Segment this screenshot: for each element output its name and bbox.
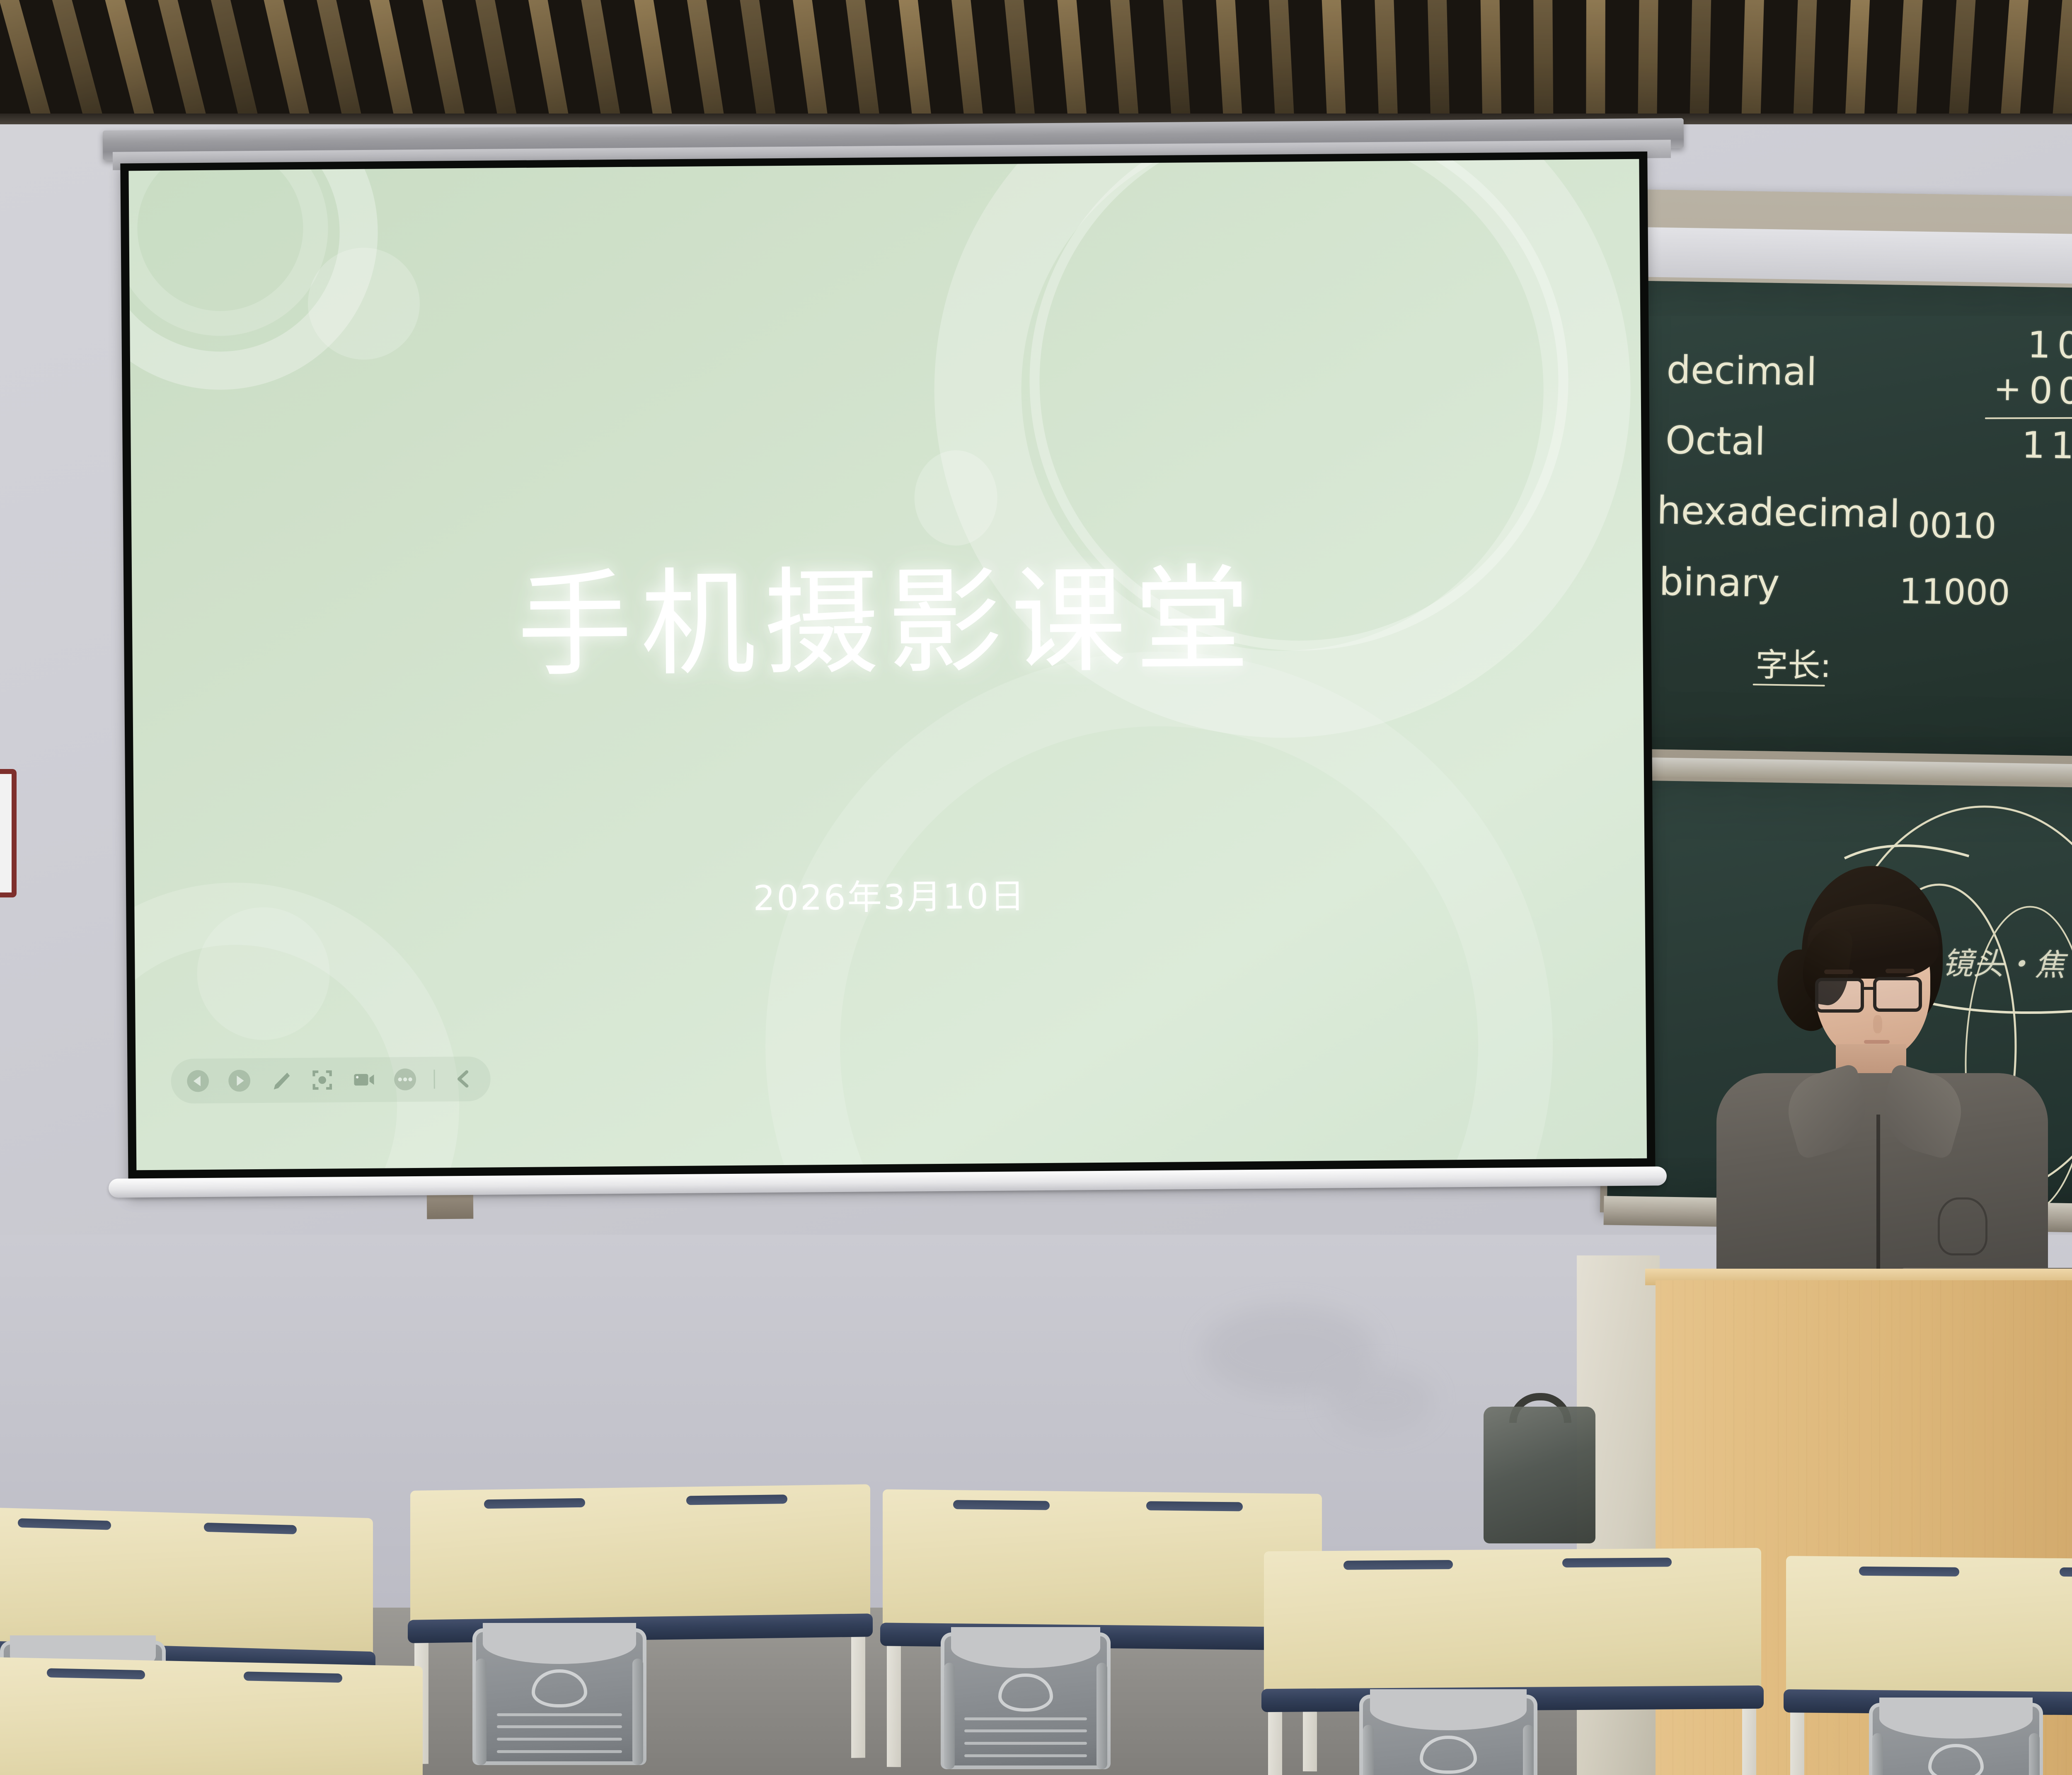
video-camera-icon[interactable] [351,1067,376,1093]
desk-surface [1786,1556,2072,1697]
ceiling-slat [738,0,777,124]
desk-surface [0,1507,373,1655]
chair-rail-left [1363,1725,1374,1775]
ceiling-slat [48,0,103,122]
pen-groove [2060,1567,2072,1577]
ceiling-slat [1793,0,1818,124]
student-desk [883,1489,1322,1630]
presentation-toolbar[interactable] [171,1057,491,1104]
ceiling-slat [314,0,363,123]
chalk-label-hexadecimal: hexadecimal [1656,488,1900,536]
focus-frame-icon[interactable] [309,1067,335,1093]
student-desk [0,1507,373,1655]
chair-wave-detail [497,1738,622,1741]
ellipsis-icon[interactable] [392,1066,418,1092]
chalk-label-decimal: decimal [1666,348,1817,394]
ceiling-slat [844,0,880,124]
ceiling-slat [525,0,569,124]
chair-rail-left [476,1659,487,1765]
ceiling-slat [261,0,311,123]
chair-top-curve [951,1627,1101,1668]
chair-rail-right [1523,1725,1534,1775]
previous-slide-button[interactable] [185,1068,211,1094]
ceiling-slat [1162,0,1191,124]
ceiling-slat [1215,0,1243,124]
chair-wave-detail [964,1717,1087,1720]
chalk-sum-result: 11010100 [2021,423,2072,470]
ceiling-slat [1897,0,1924,124]
ceiling-slat [1056,0,1087,124]
chair-rail-right [2029,1733,2040,1775]
ceiling-slat [1949,0,1977,124]
desk-surface [883,1489,1322,1630]
chalk-value-hexadecimal: 0010 [1907,505,1997,547]
pen-groove [1859,1567,1959,1577]
chair-wave-detail [964,1754,1087,1757]
ceiling-slat [1003,0,1036,124]
desk-leg [887,1630,901,1767]
eyebrow-right [1886,969,1915,973]
ceiling-slat [1427,0,1450,124]
blackboard-upper-panel: decimal Octal hexadecimal 0010 binary 11… [1607,281,2072,760]
bag-on-ledge [1484,1407,1595,1543]
chevron-left-icon[interactable] [450,1066,476,1092]
student-chair [941,1632,1111,1769]
instructor [1691,866,2064,1284]
chair-wave-detail [497,1725,622,1728]
slide-blob-3 [196,907,330,1041]
student-desk [1786,1556,2072,1697]
chalk-operand-2: 00101010 [2029,369,2072,415]
ceiling-slat [1480,0,1501,124]
student-chair [472,1628,646,1765]
chair-rail-right [1097,1663,1107,1769]
chair-top-curve [483,1623,636,1664]
chair-wave-detail [497,1713,622,1716]
nose [1873,1015,1882,1033]
chalk-operand-1: 10101010 [2027,323,2072,370]
chair-top-curve [1370,1689,1527,1730]
ceiling-slat [2052,0,2072,124]
chalk-operator: + [1993,369,2021,408]
ceiling-slat [897,0,932,124]
chalk-sum-rule [1985,416,2072,419]
desk-surface [410,1484,870,1623]
pen-groove [953,1500,1050,1510]
chair-wave-detail [964,1729,1087,1732]
wood-grain [1778,1280,1779,1775]
ceiling-slat [1321,0,1346,124]
ceiling-slat [1374,0,1398,124]
projection-screen-frame: 手机摄影课堂 2026年3月10日 [120,152,1655,1195]
ceiling-slat [208,0,259,123]
chalk-section-label: 字长: [1755,639,1832,687]
student-chair [1359,1695,1537,1775]
wall-sign [0,769,17,897]
jacket-logo [1938,1197,1987,1255]
chair-rail-left [944,1663,955,1769]
pen-groove [484,1498,585,1509]
ceiling-slat [1533,0,1553,124]
student-desk [1264,1548,1761,1692]
ceiling-slat [1741,0,1765,124]
ceiling-slat [1109,0,1139,124]
desk-leg [851,1621,865,1758]
pen-groove [1562,1557,1672,1567]
pen-groove [1343,1560,1453,1570]
ceiling-slat [950,0,984,124]
ceiling-slat [472,0,518,123]
ceiling-slat [791,0,828,124]
ceiling-slat [1845,0,1871,124]
mouth [1864,1040,1890,1044]
projection-slide: 手机摄影课堂 2026年3月10日 [128,159,1647,1170]
ceiling-slat [1586,0,1605,124]
slide-blob-1 [307,247,420,360]
ceiling-slat [102,0,155,122]
glasses-lens-left [1815,978,1864,1013]
ceiling-slat [1268,0,1295,124]
wood-grain [1766,1280,1767,1775]
student-desk [0,1657,423,1775]
ceiling-slat [2000,0,2030,124]
ceiling-slat [685,0,725,124]
chair-top-curve [1879,1698,2033,1739]
ceiling-slat [419,0,466,123]
slide-title: 手机摄影课堂 [131,524,1643,702]
glasses-lens-right [1873,977,1922,1012]
student-chair [1869,1703,2043,1775]
ceiling-slat [155,0,207,123]
chalk-label-octal: Octal [1665,418,1766,464]
ceiling-slat [0,0,51,122]
ceiling-slat [1638,0,1658,124]
chair-rail-right [632,1659,643,1765]
pen-groove [1146,1501,1243,1511]
ceiling-slat [366,0,414,123]
next-slide-button[interactable] [226,1068,252,1093]
chalk-value-binary: 11000 [1899,571,2011,613]
pen-annotate-icon[interactable] [268,1067,293,1093]
student-desk [410,1484,870,1623]
ceiling-slat [579,0,621,124]
classroom-scene: decimal Octal hexadecimal 0010 binary 11… [0,0,2072,1775]
chair-rail-left [1872,1733,1883,1775]
glasses-bridge [1861,987,1875,990]
ceiling-slats [0,0,2072,124]
chair-wave-detail [964,1742,1087,1745]
wall-smudge [1326,1367,1434,1434]
ceiling-slat [1690,0,1711,124]
desk-surface [1264,1548,1761,1692]
eyebrow-left [1824,970,1853,974]
ceiling-slat [632,0,673,124]
chalk-label-binary: binary [1659,560,1780,606]
pen-groove [686,1494,787,1505]
chair-wave-detail [497,1750,622,1753]
toolbar-separator [433,1070,435,1089]
